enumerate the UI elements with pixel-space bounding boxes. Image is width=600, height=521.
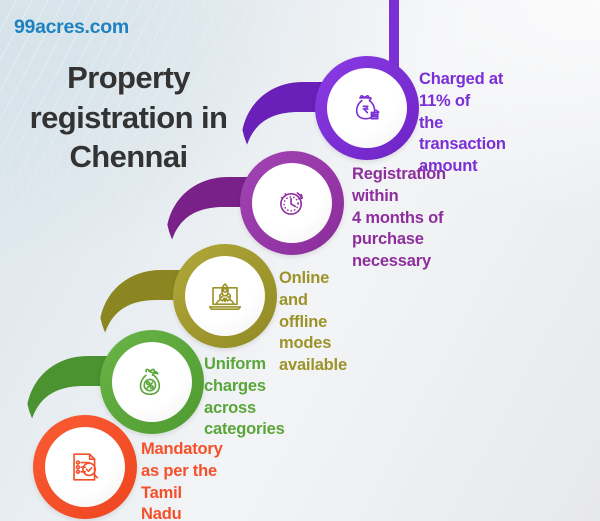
step-3-label: Online and offline modes available bbox=[279, 268, 347, 377]
infographic-canvas: 99acres.com Property registration in Che… bbox=[0, 0, 600, 521]
step-1-label: Charged at 11% of the transaction amount bbox=[419, 69, 506, 178]
money-bag-percent-icon bbox=[112, 342, 192, 422]
clock-arrow-icon bbox=[252, 163, 332, 243]
document-search-check-icon bbox=[45, 427, 125, 507]
step-1-circle[interactable] bbox=[315, 56, 419, 160]
step-2-label: Registration within 4 months of purchase… bbox=[352, 164, 446, 273]
money-bag-rupee-icon bbox=[327, 68, 407, 148]
step-5-label: Mandatory as per the Tamil Nadu Stamp Ac… bbox=[141, 439, 223, 521]
step-4-label: Uniform charges across categories bbox=[204, 354, 285, 441]
step-4-circle[interactable] bbox=[100, 330, 204, 434]
step-2-circle[interactable] bbox=[240, 151, 344, 255]
step-3-circle[interactable] bbox=[173, 244, 277, 348]
rocket-laptop-icon bbox=[185, 256, 265, 336]
brand-logo[interactable]: 99acres.com bbox=[14, 16, 129, 39]
step-5-circle[interactable] bbox=[33, 415, 137, 519]
page-title: Property registration in Chennai bbox=[16, 58, 241, 177]
